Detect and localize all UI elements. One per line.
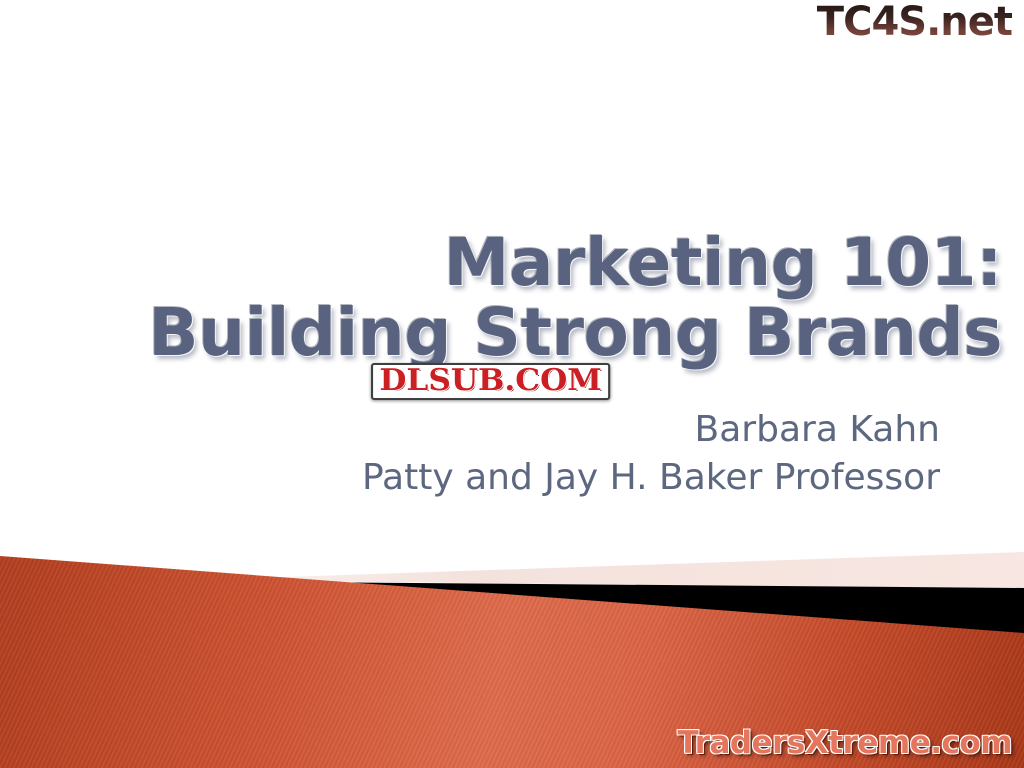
page-title: Marketing 101: Building Strong Brands bbox=[0, 228, 1002, 368]
title-slide: TC4S.net Marketing 101: Building Strong … bbox=[0, 0, 1024, 768]
subtitle: Barbara Kahn Patty and Jay H. Baker Prof… bbox=[0, 406, 940, 502]
author-name: Barbara Kahn bbox=[0, 406, 940, 454]
title-line-1: Marketing 101: bbox=[0, 228, 1002, 298]
tc4s-logo-watermark: TC4S.net bbox=[817, 2, 1012, 42]
title-line-2: Building Strong Brands bbox=[0, 298, 1002, 368]
author-title: Patty and Jay H. Baker Professor bbox=[0, 454, 940, 502]
tradersxtreme-watermark: TradersXtreme.com bbox=[677, 726, 1012, 760]
dlsub-watermark: DLSUB.COM bbox=[371, 363, 610, 400]
